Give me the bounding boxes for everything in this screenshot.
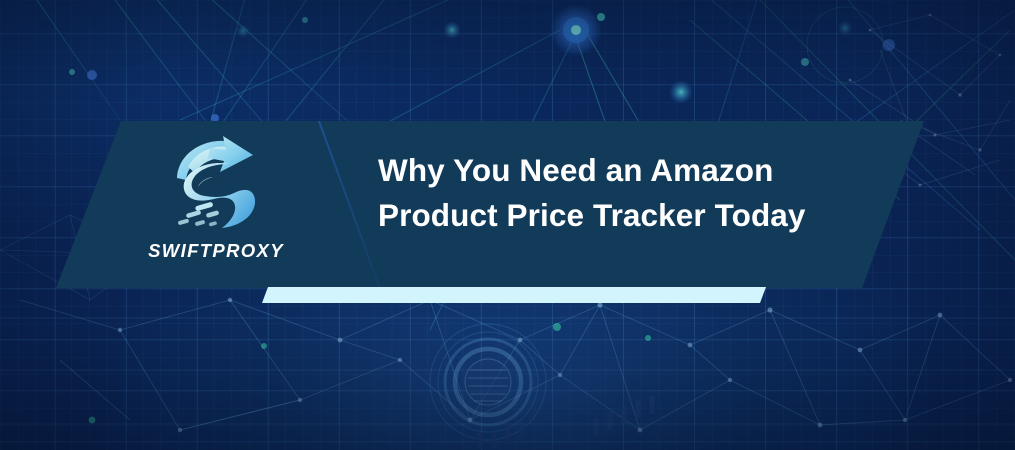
brand-logo: SWIFTPROXY (126, 134, 306, 276)
swift-arrow-s-logo-icon (164, 134, 268, 234)
concentric-radar-icon (430, 324, 546, 448)
headline-line-1: Why You Need an Amazon (378, 148, 898, 193)
page-title: Why You Need an Amazon Product Price Tra… (378, 148, 898, 237)
brand-name: SWIFTPROXY (148, 240, 284, 262)
accent-bar (262, 287, 766, 303)
banner: SWIFTPROXY Why You Need an Amazon Produc… (0, 0, 1015, 450)
headline-line-2: Product Price Tracker Today (378, 193, 898, 238)
